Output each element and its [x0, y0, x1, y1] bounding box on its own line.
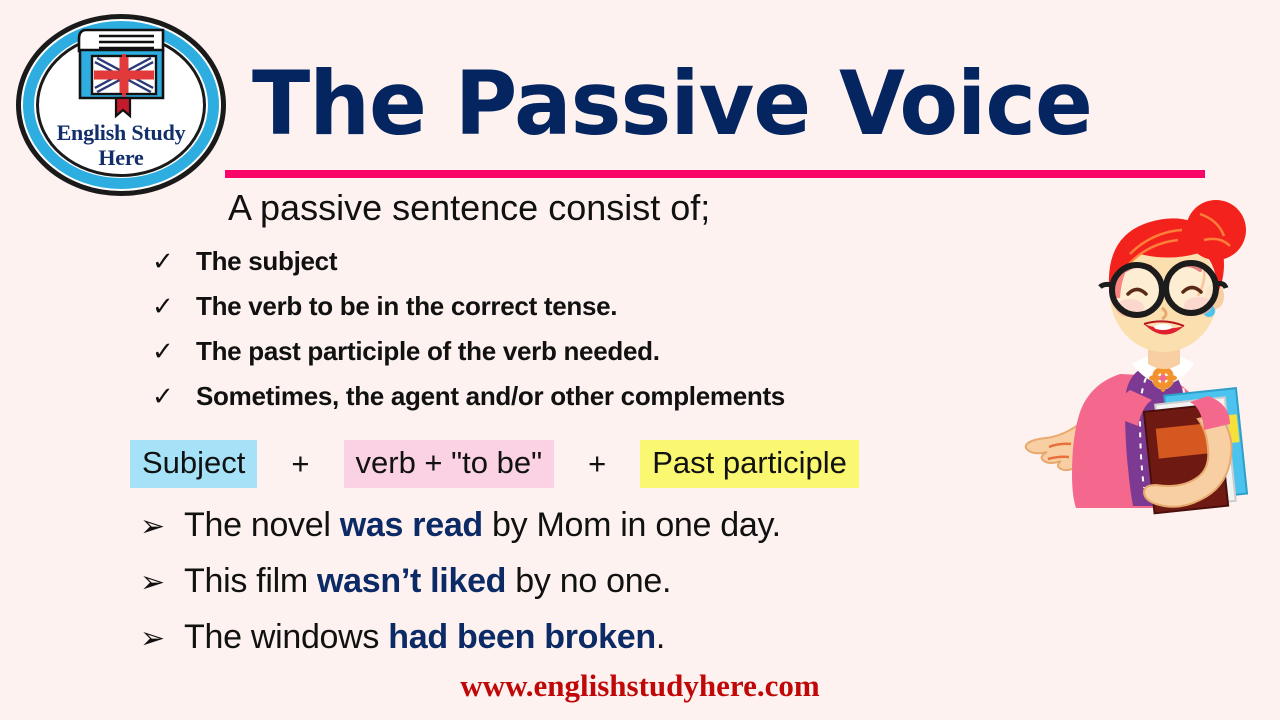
- page-title: The Passive Voice: [252, 58, 1092, 150]
- example-sentence: The windows had been broken.: [184, 618, 665, 657]
- example-sentence: This film wasn’t liked by no one.: [184, 562, 671, 601]
- list-item-label: The subject: [196, 246, 337, 277]
- english-study-here-logo: English Study Here: [16, 14, 234, 204]
- formula-plus-1: +: [257, 446, 343, 482]
- example-verb: had been broken: [388, 618, 656, 656]
- list-item-label: The past participle of the verb needed.: [196, 336, 660, 367]
- example-after: .: [656, 618, 665, 656]
- list-item: ➢ This film wasn’t liked by no one.: [140, 562, 781, 618]
- check-icon: ✓: [152, 292, 196, 322]
- example-verb: wasn’t liked: [317, 562, 506, 600]
- example-before: The windows: [184, 618, 388, 656]
- list-item: ➢ The novel was read by Mom in one day.: [140, 506, 781, 562]
- list-item-label: Sometimes, the agent and/or other comple…: [196, 381, 785, 412]
- list-item-label: The verb to be in the correct tense.: [196, 291, 617, 322]
- arrow-bullet-icon: ➢: [140, 509, 184, 544]
- website-url: www.englishstudyhere.com: [0, 668, 1280, 704]
- formula-chip-to-be: verb + "to be": [344, 440, 555, 488]
- passive-formula: Subject + verb + "to be" + Past particip…: [130, 440, 859, 488]
- logo-text-line2: Here: [16, 145, 226, 170]
- example-before: This film: [184, 562, 317, 600]
- arrow-bullet-icon: ➢: [140, 565, 184, 600]
- example-before: The novel: [184, 506, 340, 544]
- example-after: by no one.: [506, 562, 671, 600]
- list-item: ✓ The past participle of the verb needed…: [152, 336, 785, 381]
- list-item: ✓ Sometimes, the agent and/or other comp…: [152, 381, 785, 426]
- list-item: ✓ The subject: [152, 246, 785, 291]
- teacher-character-illustration: [1002, 178, 1280, 518]
- formula-plus-2: +: [554, 446, 640, 482]
- example-sentences: ➢ The novel was read by Mom in one day. …: [140, 506, 781, 674]
- logo-text-line1: English Study: [16, 120, 226, 145]
- list-item: ✓ The verb to be in the correct tense.: [152, 291, 785, 336]
- title-divider: [225, 170, 1205, 178]
- example-verb: was read: [340, 506, 483, 544]
- list-item: ➢ The windows had been broken.: [140, 618, 781, 674]
- check-icon: ✓: [152, 247, 196, 277]
- infographic-canvas: English Study Here The Passive Voice A p…: [0, 0, 1280, 720]
- intro-text: A passive sentence consist of;: [228, 186, 710, 230]
- example-after: by Mom in one day.: [483, 506, 781, 544]
- formula-chip-past-participle: Past participle: [640, 440, 859, 488]
- formula-chip-subject: Subject: [130, 440, 257, 488]
- arrow-bullet-icon: ➢: [140, 621, 184, 656]
- check-icon: ✓: [152, 337, 196, 367]
- example-sentence: The novel was read by Mom in one day.: [184, 506, 781, 545]
- book-with-flag-icon: [72, 24, 172, 120]
- logo-text: English Study Here: [16, 120, 226, 170]
- requirements-list: ✓ The subject ✓ The verb to be in the co…: [152, 246, 785, 426]
- check-icon: ✓: [152, 382, 196, 412]
